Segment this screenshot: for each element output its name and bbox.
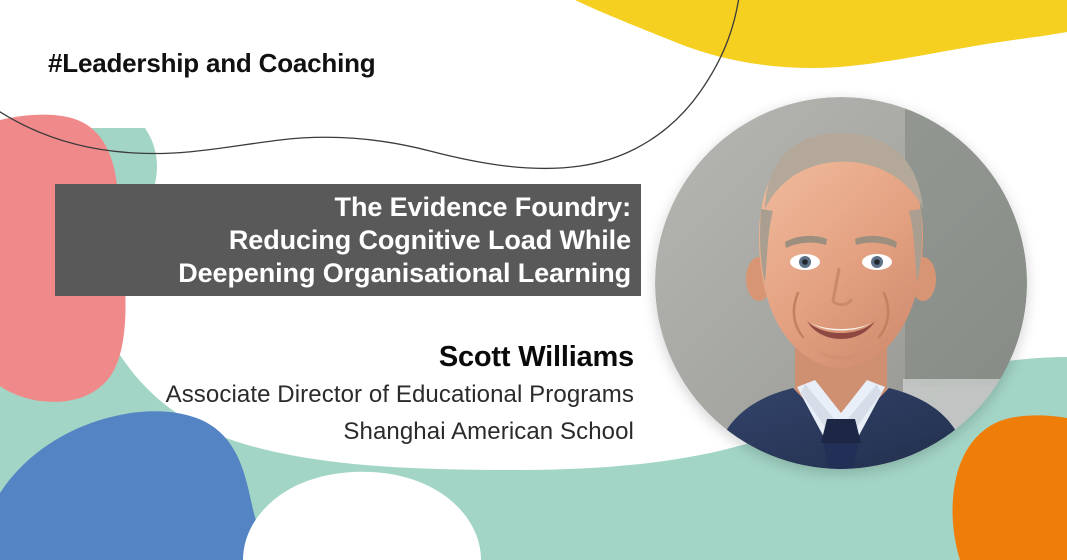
portrait-illustration: [655, 97, 1027, 469]
speaker-info: Scott Williams Associate Director of Edu…: [34, 338, 634, 450]
speaker-organisation: Shanghai American School: [34, 413, 634, 450]
title-banner: The Evidence Foundry: Reducing Cognitive…: [55, 184, 641, 296]
portrait-pupil-left: [802, 259, 808, 265]
speaker-portrait: [655, 97, 1027, 469]
hashtag-label: #Leadership and Coaching: [48, 48, 376, 79]
speaker-name: Scott Williams: [34, 338, 634, 376]
speaker-role: Associate Director of Educational Progra…: [34, 376, 634, 413]
presentation-slide: #Leadership and Coaching The Evidence Fo…: [0, 0, 1067, 560]
portrait-pupil-right: [874, 259, 880, 265]
title-line-2: Reducing Cognitive Load While: [229, 224, 631, 257]
title-line-1: The Evidence Foundry:: [335, 191, 631, 224]
portrait-tie: [823, 443, 859, 469]
title-line-3: Deepening Organisational Learning: [178, 257, 631, 290]
portrait-tie-knot: [821, 419, 861, 443]
